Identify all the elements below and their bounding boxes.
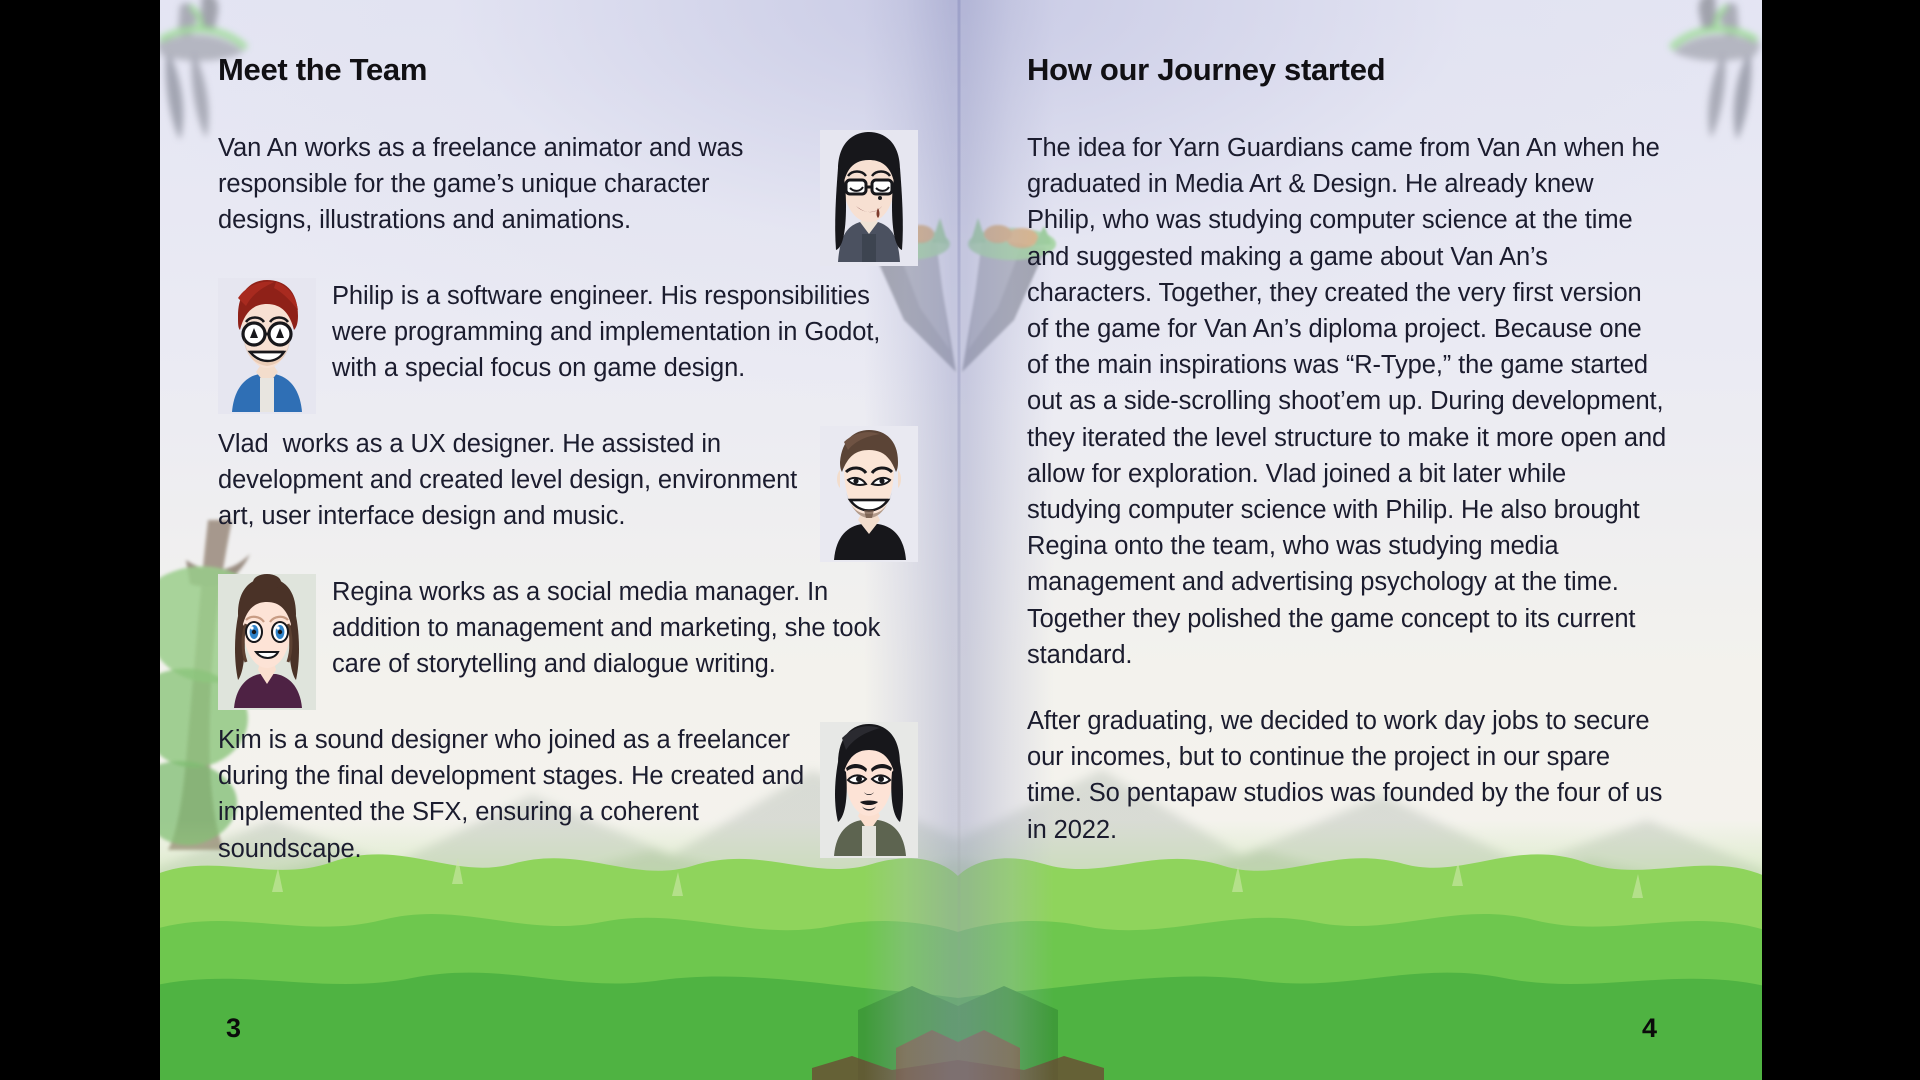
bio-van-an: Van An works as a freelance animator and… bbox=[218, 130, 918, 266]
avatar-vlad bbox=[820, 426, 918, 562]
avatar-philip bbox=[218, 278, 316, 414]
bio-text-kim: Kim is a sound designer who joined as a … bbox=[218, 722, 806, 867]
book-spread: Meet the Team bbox=[152, 0, 1765, 1080]
left-page: Meet the Team bbox=[218, 0, 918, 1080]
page-number-right: 4 bbox=[1642, 1013, 1657, 1044]
bio-text-van-an: Van An works as a freelance animator and… bbox=[218, 130, 806, 239]
right-page-heading: How our Journey started bbox=[1027, 52, 1385, 88]
right-page: How our Journey started The idea for Yar… bbox=[1027, 0, 1667, 1080]
bio-vlad: Vlad works as a UX designer. He assisted… bbox=[218, 426, 918, 562]
letterbox-left bbox=[0, 0, 160, 1080]
screenshot-root: Meet the Team bbox=[0, 0, 1920, 1080]
left-page-heading: Meet the Team bbox=[218, 52, 427, 88]
bio-kim: Kim is a sound designer who joined as a … bbox=[218, 722, 918, 867]
avatar-van-an bbox=[820, 130, 918, 266]
journey-body: The idea for Yarn Guardians came from Va… bbox=[1027, 130, 1667, 848]
bio-text-vlad: Vlad works as a UX designer. He assisted… bbox=[218, 426, 806, 535]
journey-paragraph-2: After graduating, we decided to work day… bbox=[1027, 703, 1667, 848]
avatar-regina bbox=[218, 574, 316, 710]
book-spine-line bbox=[957, 0, 960, 1080]
avatar-kim bbox=[820, 722, 918, 858]
bio-text-regina: Regina works as a social media manager. … bbox=[330, 574, 918, 683]
team-bio-list: Van An works as a freelance animator and… bbox=[218, 130, 918, 879]
bio-regina: Regina works as a social media manager. … bbox=[218, 574, 918, 710]
bio-philip: Philip is a software engineer. His respo… bbox=[218, 278, 918, 414]
bio-text-philip: Philip is a software engineer. His respo… bbox=[330, 278, 918, 387]
page-number-left: 3 bbox=[226, 1013, 241, 1044]
journey-paragraph-1: The idea for Yarn Guardians came from Va… bbox=[1027, 130, 1667, 673]
letterbox-right bbox=[1762, 0, 1920, 1080]
